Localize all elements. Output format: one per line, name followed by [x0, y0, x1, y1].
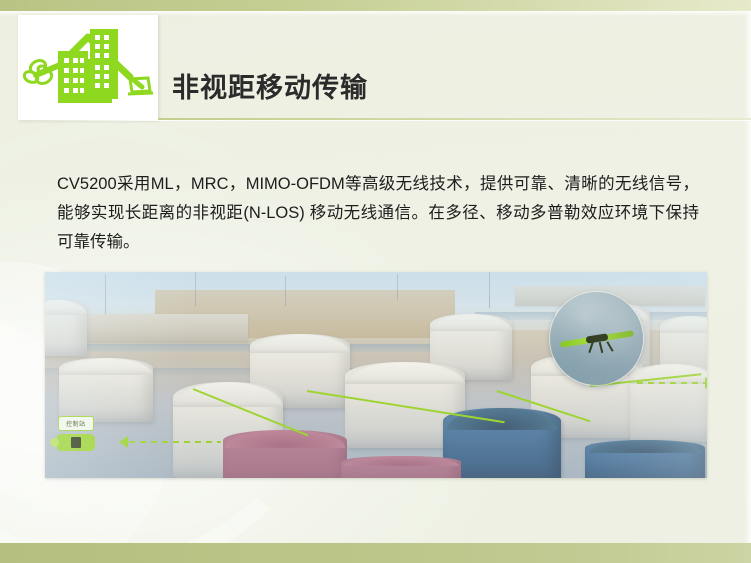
- drone-icon: [560, 326, 634, 356]
- bottom-band: [0, 543, 751, 563]
- right-edge-highlight: [744, 11, 751, 543]
- control-station-icon: [57, 434, 95, 451]
- drone-leg: [606, 341, 613, 352]
- drone-leg: [599, 342, 604, 353]
- signal-dashed-lower: [129, 441, 221, 443]
- drone-magnifier-inset: [550, 292, 643, 385]
- signal-dashed-upper: [637, 382, 707, 384]
- drone-leg: [588, 342, 593, 353]
- signal-arrow-right: [705, 377, 707, 389]
- slide: 非视距移动传输 CV5200采用ML，MRC，MIMO-OFDM等高级无线技术，…: [0, 0, 751, 563]
- top-band: [0, 0, 751, 11]
- logo-plate: [18, 15, 158, 120]
- title-underline-highlight: [0, 120, 751, 121]
- drone-body: [586, 333, 609, 343]
- control-station-callout: 控制站: [58, 416, 94, 431]
- refinery-photo: 控制站: [45, 272, 707, 478]
- signal-arrow-left: [119, 436, 128, 448]
- body-paragraph: CV5200采用ML，MRC，MIMO-OFDM等高级无线技术，提供可靠、清晰的…: [57, 170, 699, 257]
- smart-city-buildings-icon: [18, 15, 158, 120]
- page-title: 非视距移动传输: [172, 66, 368, 105]
